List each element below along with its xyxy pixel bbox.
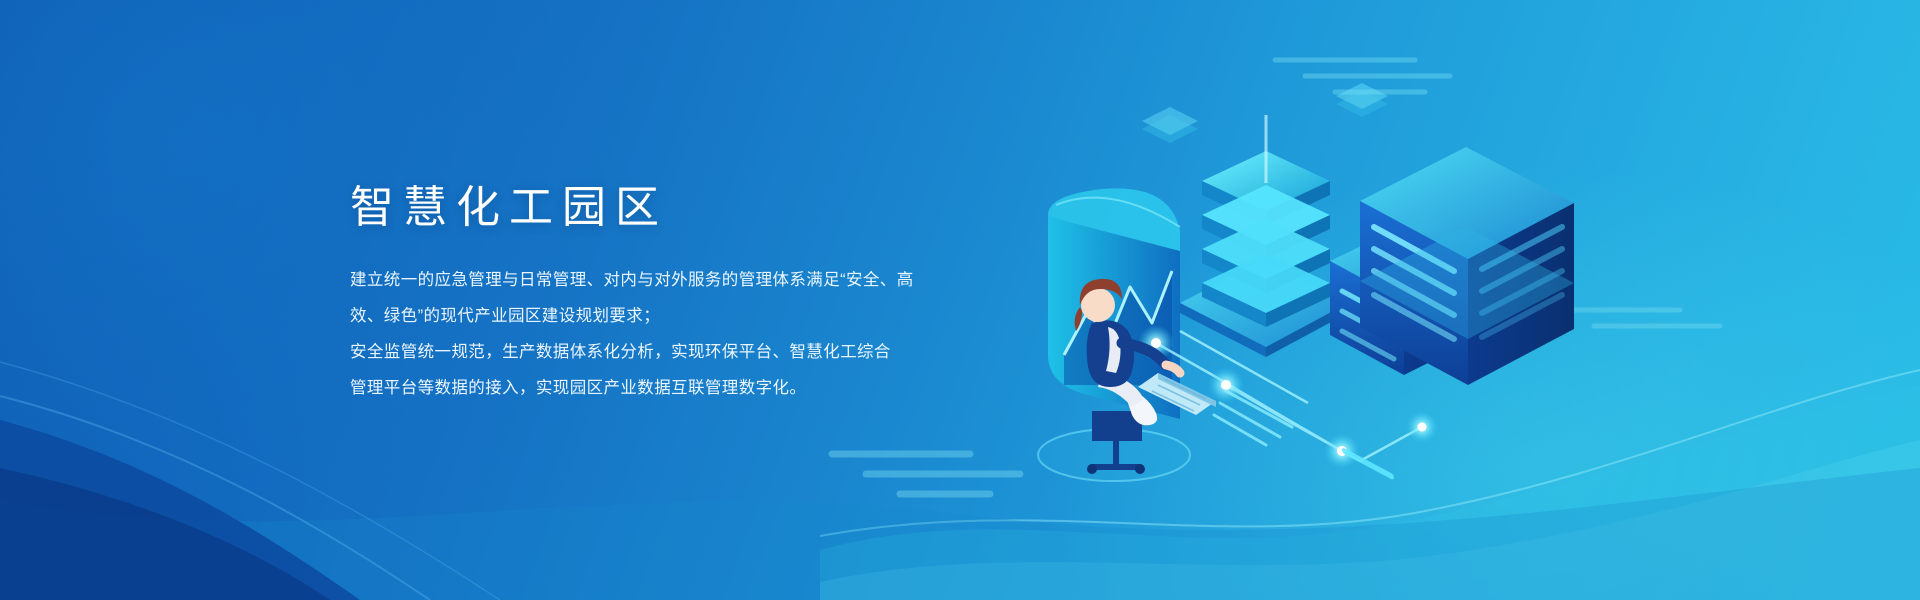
page-title: 智慧化工园区 bbox=[350, 180, 1070, 236]
hero-description: 建立统一的应急管理与日常管理、对内与对外服务的管理体系满足“安全、高 效、绿色”… bbox=[350, 262, 1070, 406]
hero-banner: 智慧化工园区 建立统一的应急管理与日常管理、对内与对外服务的管理体系满足“安全、… bbox=[0, 0, 1920, 600]
description-line: 管理平台等数据的接入，实现园区产业数据互联管理数字化。 bbox=[350, 370, 1070, 406]
description-line: 建立统一的应急管理与日常管理、对内与对外服务的管理体系满足“安全、高 bbox=[350, 262, 1070, 298]
description-line: 效、绿色”的现代产业园区建设规划要求； bbox=[350, 298, 1070, 334]
hero-copy: 智慧化工园区 建立统一的应急管理与日常管理、对内与对外服务的管理体系满足“安全、… bbox=[350, 180, 1070, 406]
hero-illustration bbox=[1030, 55, 1590, 525]
data-tower bbox=[1202, 115, 1330, 327]
cloud-motif-icon bbox=[820, 440, 1050, 502]
description-line: 安全监管统一规范，生产数据体系化分析，实现环保平台、智慧化工综合 bbox=[350, 334, 1070, 370]
